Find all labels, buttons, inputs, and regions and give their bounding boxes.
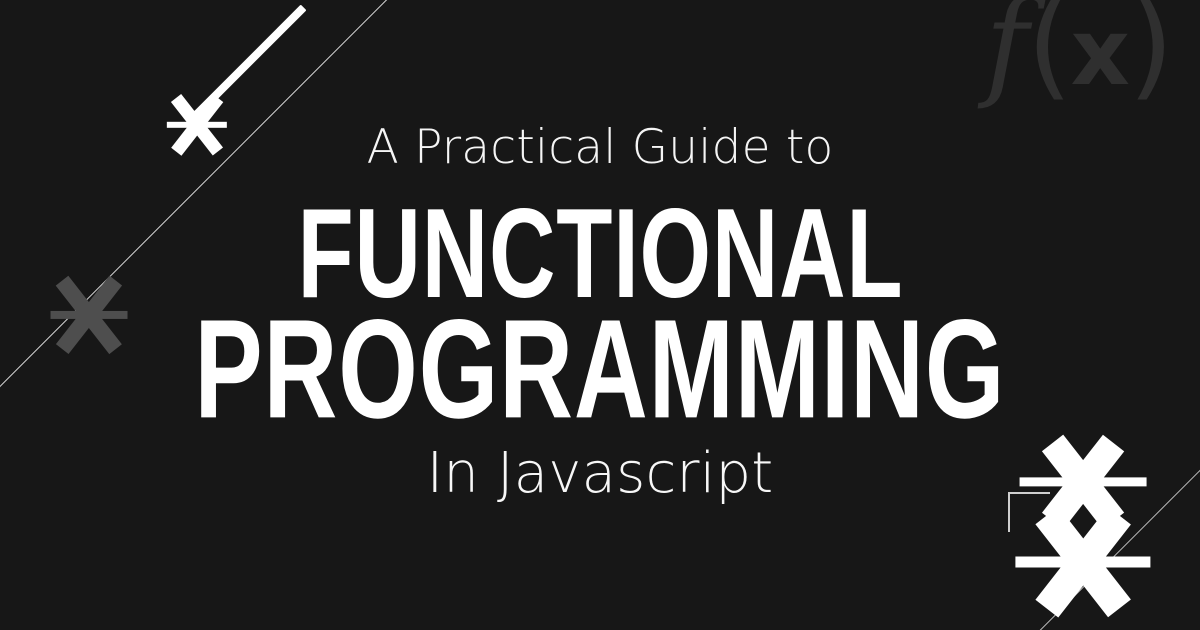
title-block: A Practical Guide to FUNCTIONAL PROGRAMM…: [0, 0, 1200, 630]
headline-line-2: PROGRAMMING: [195, 300, 1006, 438]
banner-canvas: f(x) A Practical Guide to FUNCTIONAL PRO…: [0, 0, 1200, 630]
eyebrow-text: A Practical Guide to: [367, 124, 834, 171]
subtitle-text: In Javascript: [427, 446, 774, 502]
